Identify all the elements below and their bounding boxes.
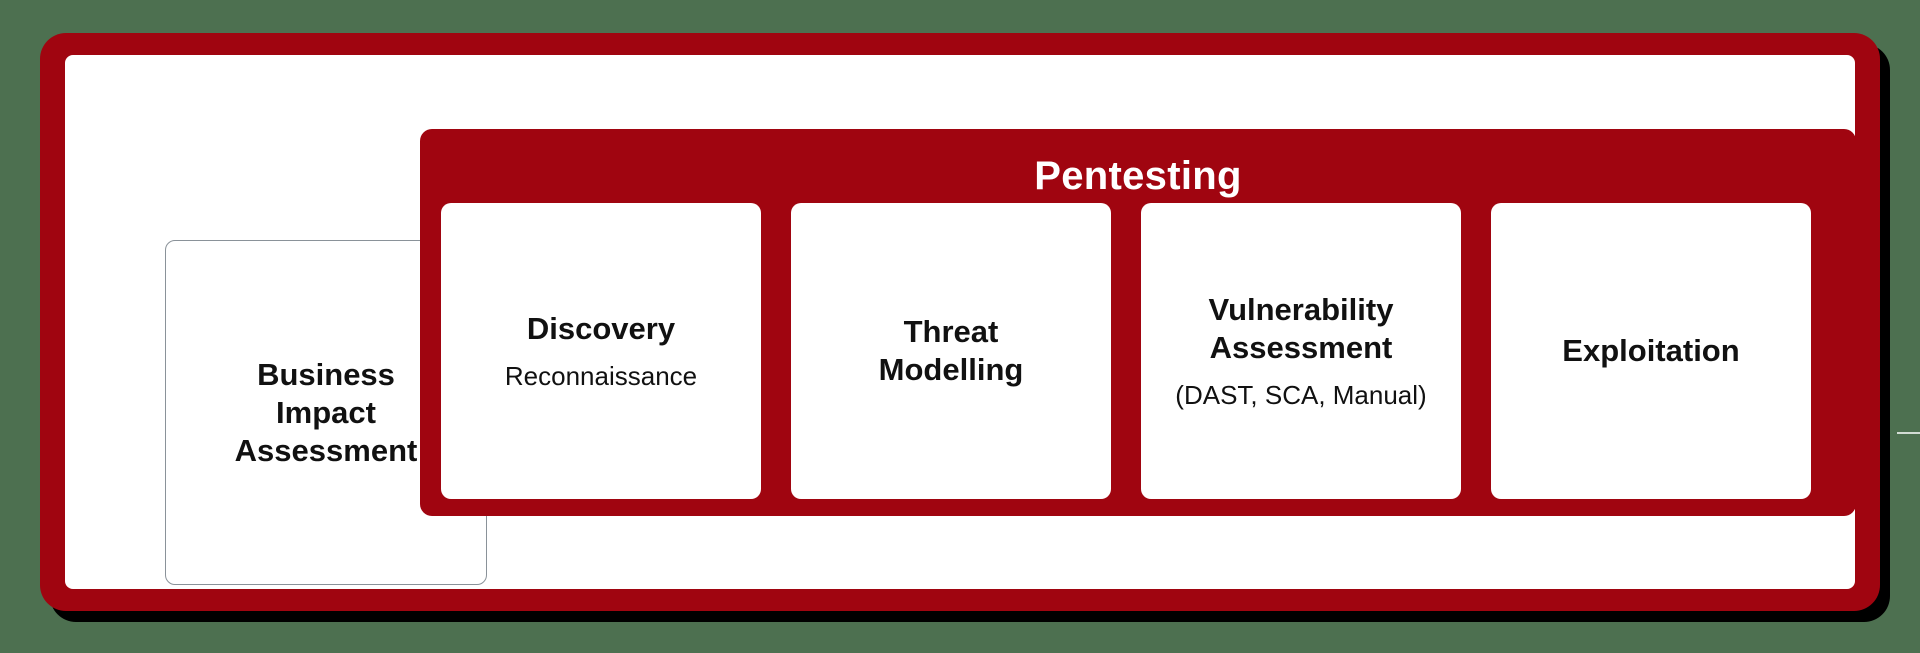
- stage-title: Exploitation: [1562, 332, 1739, 370]
- stage-title: Threat Modelling: [879, 313, 1024, 389]
- stage-title: Business Impact Assessment: [235, 356, 418, 470]
- white-content-plate: Business Impact Assessment Pentesting Di…: [65, 55, 1855, 589]
- stage-subtitle: Reconnaissance: [505, 360, 697, 392]
- stage-title: Discovery: [527, 310, 675, 348]
- stage-card-exploitation[interactable]: Exploitation: [1491, 203, 1811, 499]
- pentesting-group-panel: Pentesting Discovery Reconnaissance Thre…: [420, 129, 1856, 516]
- arrow-right-icon: [1897, 421, 1920, 445]
- stage-subtitle: (DAST, SCA, Manual): [1175, 379, 1426, 411]
- diagram-canvas: Business Impact Assessment Pentesting Di…: [0, 0, 1920, 653]
- stage-card-vulnerability-assessment[interactable]: Vulnerability Assessment (DAST, SCA, Man…: [1141, 203, 1461, 499]
- pentesting-group-title: Pentesting: [420, 153, 1856, 199]
- stage-card-threat-modelling[interactable]: Threat Modelling: [791, 203, 1111, 499]
- stage-title: Vulnerability Assessment: [1209, 291, 1394, 367]
- outer-red-frame: Business Impact Assessment Pentesting Di…: [40, 33, 1880, 611]
- stage-card-discovery[interactable]: Discovery Reconnaissance: [441, 203, 761, 499]
